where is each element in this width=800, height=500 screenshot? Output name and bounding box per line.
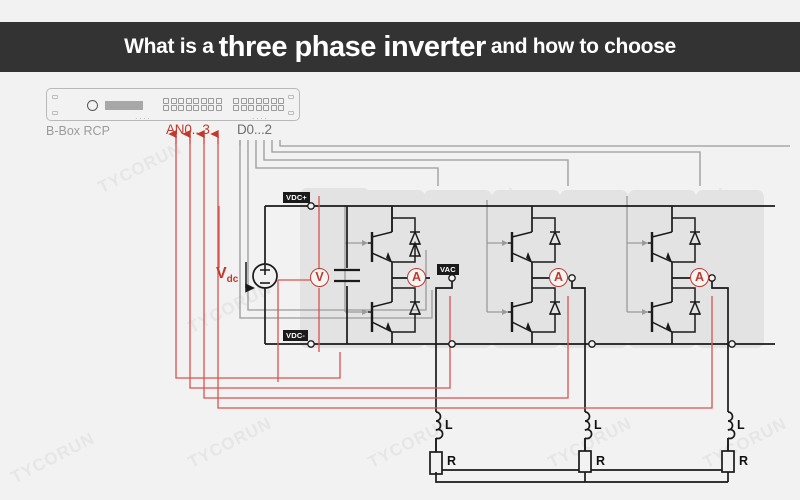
screenshot-root: TYCORUN TYCORUN TYCORUN TYCORUN TYCORUN … (0, 0, 800, 500)
dc-source-symbol (253, 264, 277, 288)
inductor-label-3: L (737, 419, 745, 432)
inductor-symbols (436, 412, 735, 439)
vdc-negative-badge: VDC- (283, 330, 308, 341)
measurement-arrowheads (176, 134, 218, 144)
resistor-label-2: R (596, 455, 605, 468)
resistor-label-3: R (739, 455, 748, 468)
voltmeter: V (310, 268, 329, 287)
ammeter-phase-1: A (407, 268, 426, 287)
vac-badge: VAC (437, 264, 459, 275)
ammeter-phase-3: A (690, 268, 709, 287)
inductor-label-1: L (445, 419, 453, 432)
vdc-subscript: dc (227, 274, 239, 285)
circuit-schematic (0, 0, 800, 500)
resistor-label-1: R (447, 455, 456, 468)
inductor-label-2: L (594, 419, 602, 432)
vdc-positive-badge: VDC+ (283, 192, 310, 203)
vdc-source-label: Vdc (216, 266, 238, 285)
ammeter-phase-2: A (549, 268, 568, 287)
